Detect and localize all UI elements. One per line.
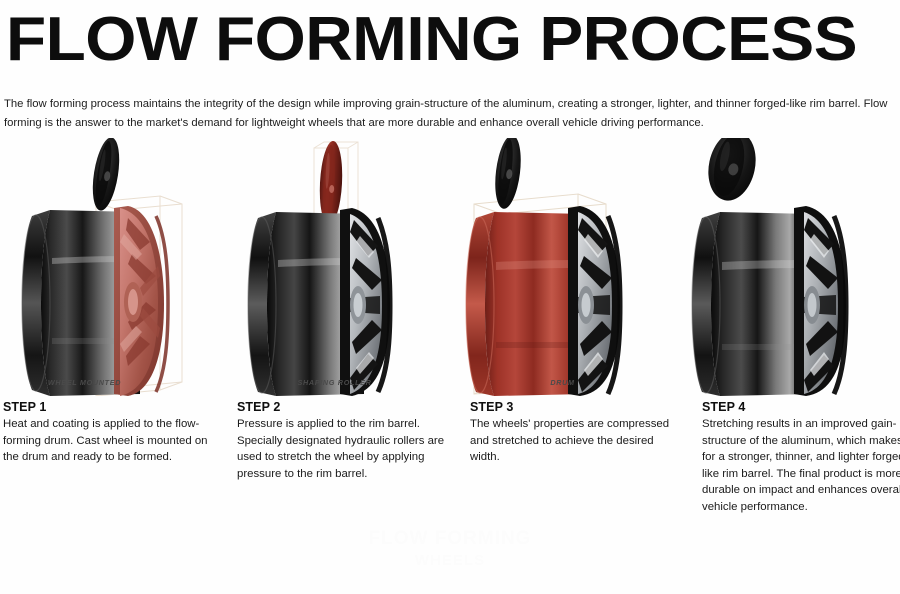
step-4-body: Stretching results in an improved gain-s… xyxy=(702,416,900,516)
step-4-illustration-panel xyxy=(680,138,900,396)
shaping-roller-illustration xyxy=(228,138,453,396)
finished-wheel-illustration xyxy=(680,138,900,396)
step-1-body: Heat and coating is applied to the flow-… xyxy=(3,416,211,466)
step-4-text: STEP 4 Stretching results in an improved… xyxy=(702,400,900,516)
step-2-text: STEP 2 Pressure is applied to the rim ba… xyxy=(237,400,445,482)
step-2-heading: STEP 2 xyxy=(237,400,445,414)
wheel-face-silver xyxy=(794,206,846,396)
infographic-page: FLOW FORMING PROCESS The flow forming pr… xyxy=(0,0,900,594)
page-title: FLOW FORMING PROCESS xyxy=(6,8,900,72)
wheel-face-silver xyxy=(340,208,390,396)
step-2-caption: SHAPING ROLLER xyxy=(222,378,447,387)
step-3-caption: DRUM xyxy=(450,378,675,387)
step-1-heading: STEP 1 xyxy=(3,400,211,414)
step-1-illustration-panel: WHEEL MOUNTED xyxy=(0,138,225,396)
wheel-mounted-illustration xyxy=(0,138,225,396)
step-3-heading: STEP 3 xyxy=(470,400,678,414)
step-3-illustration-panel: DRUM xyxy=(458,138,683,396)
step-1-caption: WHEEL MOUNTED xyxy=(0,378,197,387)
step-4-heading: STEP 4 xyxy=(702,400,900,414)
watermark-line-2: WHEELS xyxy=(0,550,900,572)
wheel-face-silver xyxy=(568,206,620,396)
step-1-text: STEP 1 Heat and coating is applied to th… xyxy=(3,400,211,466)
roller-disc-icon xyxy=(702,138,762,205)
step-2-body: Pressure is applied to the rim barrel. S… xyxy=(237,416,445,482)
step-2-illustration-panel: SHAPING ROLLER xyxy=(228,138,453,396)
drum-illustration xyxy=(458,138,683,396)
watermark-line-1: FLOW FORMING xyxy=(0,528,900,550)
intro-paragraph: The flow forming process maintains the i… xyxy=(4,95,892,133)
illustration-strip: WHEEL MOUNTED xyxy=(0,138,900,396)
background-watermark: FLOW FORMING WHEELS xyxy=(0,528,900,572)
step-3-body: The wheels' properties are compressed an… xyxy=(470,416,678,466)
roller-disc-icon xyxy=(88,138,123,212)
step-3-text: STEP 3 The wheels' properties are compre… xyxy=(470,400,678,466)
